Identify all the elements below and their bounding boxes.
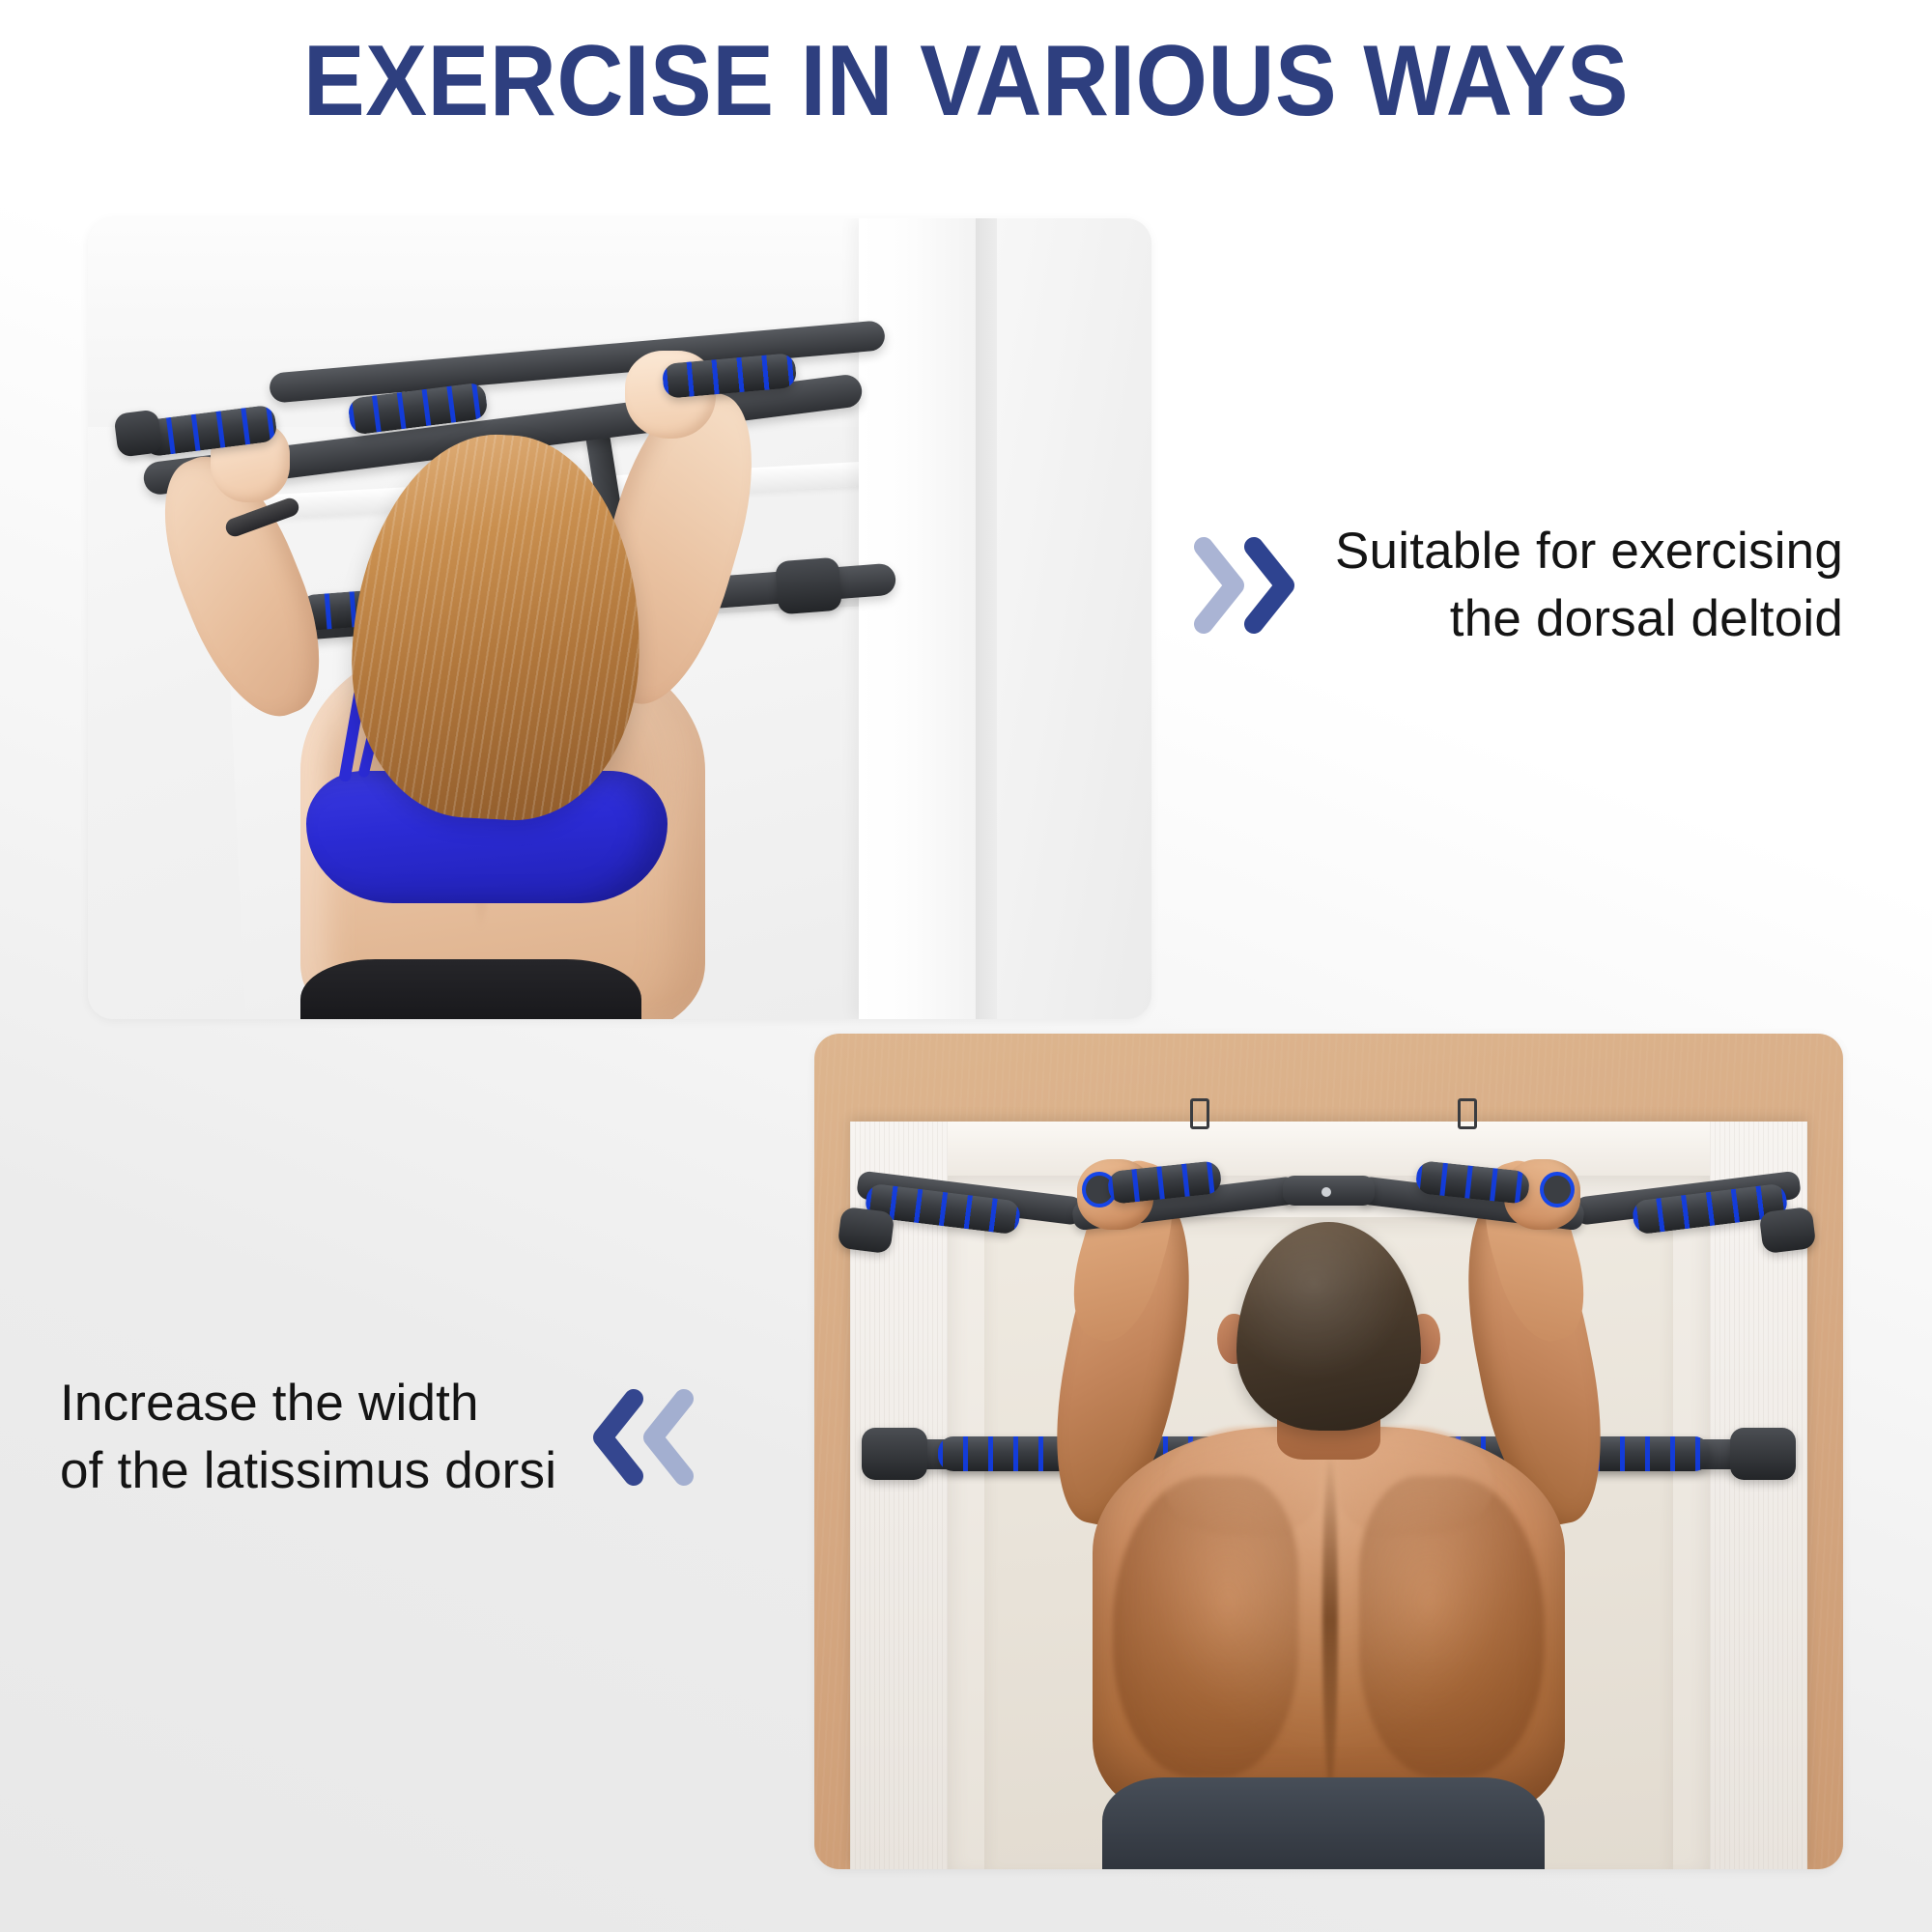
double-chevron-left xyxy=(585,1383,697,1492)
bar-end-cap xyxy=(862,1428,927,1480)
leggings xyxy=(300,959,640,1019)
bar-end-cap xyxy=(1758,1206,1816,1254)
left-callout-text: Increase the width of the latissimus dor… xyxy=(60,1370,556,1505)
bar-end-cap xyxy=(775,557,842,615)
callout-line: Suitable for exercising xyxy=(1335,518,1843,585)
photo-top-left xyxy=(88,218,1151,1019)
chevron-right-icon-dark xyxy=(1240,531,1302,639)
callout-line: Increase the width xyxy=(60,1370,556,1437)
left-callout: Increase the width of the latissimus dor… xyxy=(60,1370,755,1505)
bar-end-cap xyxy=(113,409,162,457)
photo-bottom-right xyxy=(814,1034,1843,1869)
shorts xyxy=(1102,1777,1545,1869)
bar-end-cap xyxy=(1730,1428,1796,1480)
double-chevron-right xyxy=(1190,531,1302,639)
spine-line xyxy=(1322,1452,1338,1786)
right-callout: Suitable for exercising the dorsal delto… xyxy=(1190,518,1905,653)
door-lintel xyxy=(948,1122,1709,1176)
door-surface xyxy=(997,218,1151,1019)
mount-hook xyxy=(1458,1098,1477,1129)
poster-canvas: EXERCISE IN VARIOUS WAYS xyxy=(0,0,1932,1932)
bar-end-cap xyxy=(837,1206,895,1254)
right-callout-text: Suitable for exercising the dorsal delto… xyxy=(1335,518,1843,653)
callout-line: the dorsal deltoid xyxy=(1335,585,1843,653)
mount-hook xyxy=(1190,1098,1209,1129)
door-jamb-edge xyxy=(976,218,999,1019)
page-title: EXERCISE IN VARIOUS WAYS xyxy=(77,27,1855,135)
grip-knob-right xyxy=(1540,1172,1575,1207)
callout-line: of the latissimus dorsi xyxy=(60,1437,556,1505)
chevron-left-icon-light xyxy=(636,1383,697,1492)
